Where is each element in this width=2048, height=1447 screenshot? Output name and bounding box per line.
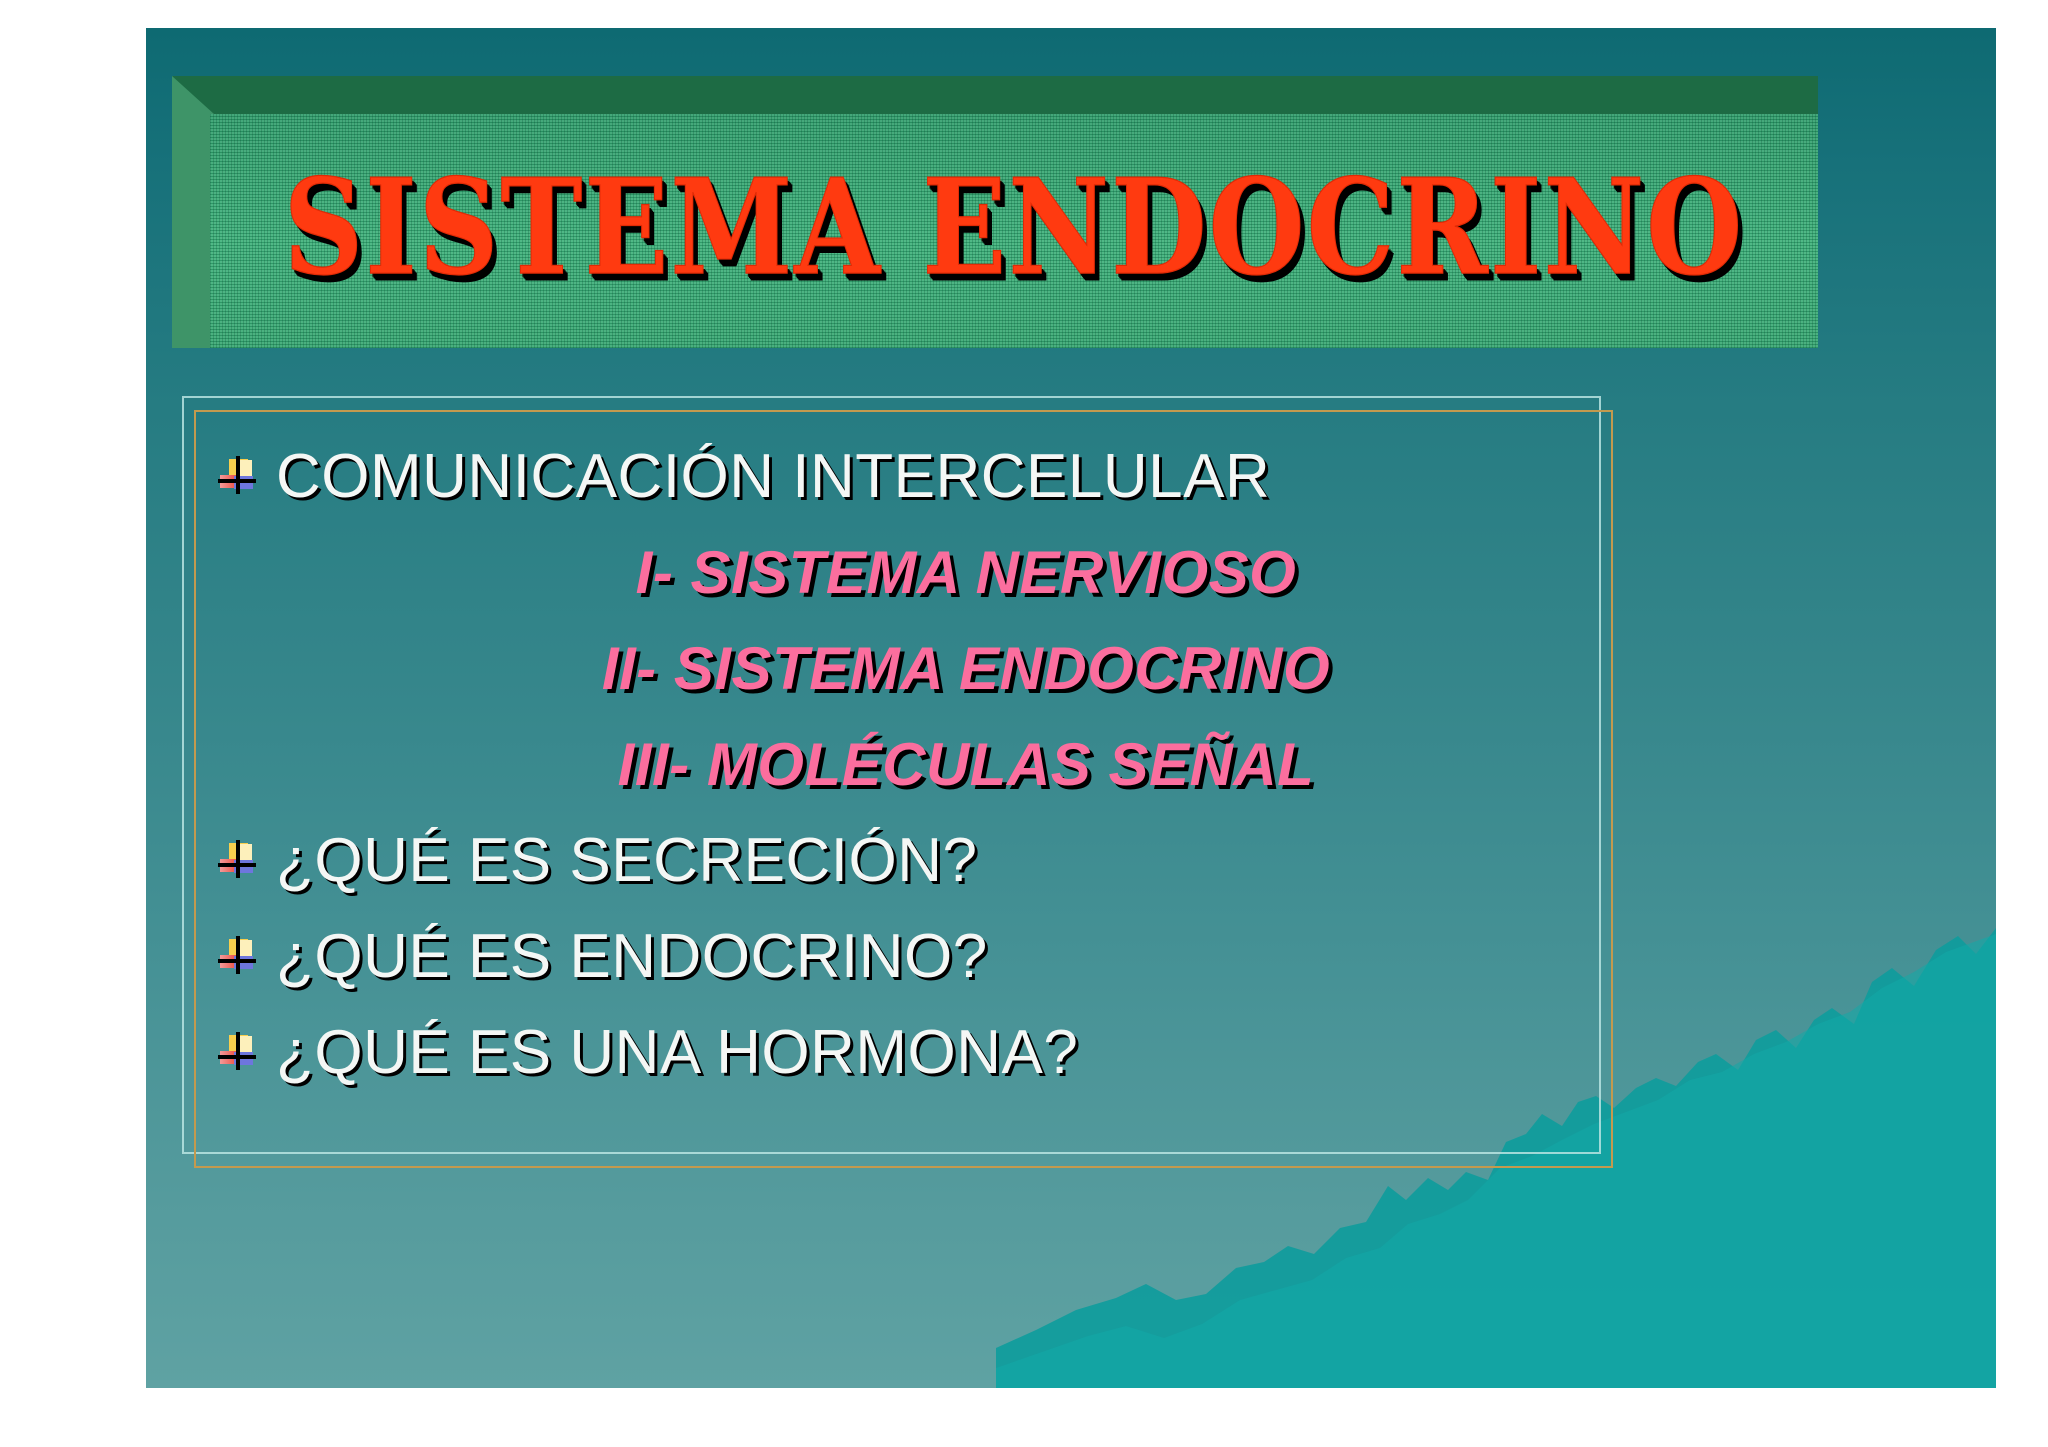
presentation-slide: SISTEMA ENDOCRINO COMUNICACIÓN INTERCELU… <box>146 28 1996 1388</box>
banner-face: SISTEMA ENDOCRINO <box>210 114 1818 348</box>
list-item: I- SISTEMA NERVIOSO <box>206 524 1606 620</box>
bullet-sq-cream-part <box>239 940 252 957</box>
list-item: COMUNICACIÓN INTERCELULAR <box>206 428 1606 524</box>
list-item-label: ¿QUÉ ES UNA HORMONA? <box>276 1017 1078 1088</box>
list-item-label: ¿QUÉ ES SECRECIÓN? <box>276 825 977 896</box>
list-item-label: I- SISTEMA NERVIOSO <box>636 538 1297 607</box>
bullet-bar-h-part <box>218 863 256 867</box>
bullet-marker-icon <box>220 939 254 973</box>
bullet-sq-cream-part <box>239 460 252 477</box>
bullet-sq-cream-part <box>239 1036 252 1053</box>
bullet-bar-v-part <box>236 840 240 878</box>
list-item-label: ¿QUÉ ES ENDOCRINO? <box>276 921 988 992</box>
list-item: ¿QUÉ ES ENDOCRINO? <box>206 908 1606 1004</box>
content-list: COMUNICACIÓN INTERCELULARI- SISTEMA NERV… <box>206 428 1606 1100</box>
list-item-label: II- SISTEMA ENDOCRINO <box>602 634 1330 703</box>
slide-title: SISTEMA ENDOCRINO <box>284 162 1745 294</box>
bullet-sq-cream-part <box>239 844 252 861</box>
list-item-label: COMUNICACIÓN INTERCELULAR <box>276 441 1270 512</box>
bullet-bar-h-part <box>218 959 256 963</box>
list-item: II- SISTEMA ENDOCRINO <box>206 620 1606 716</box>
bullet-bar-h-part <box>218 1055 256 1059</box>
bullet-bar-v-part <box>236 936 240 974</box>
list-item: ¿QUÉ ES UNA HORMONA? <box>206 1004 1606 1100</box>
bullet-marker-icon <box>220 843 254 877</box>
list-item-label: III- MOLÉCULAS SEÑAL <box>618 730 1315 799</box>
title-banner: SISTEMA ENDOCRINO <box>172 76 1818 348</box>
bullet-bar-v-part <box>236 1032 240 1070</box>
bullet-marker-icon <box>220 1035 254 1069</box>
banner-left-bevel <box>172 76 214 348</box>
list-item: ¿QUÉ ES SECRECIÓN? <box>206 812 1606 908</box>
bullet-bar-v-part <box>236 456 240 494</box>
list-item: III- MOLÉCULAS SEÑAL <box>206 716 1606 812</box>
bullet-bar-h-part <box>218 479 256 483</box>
banner-top-bevel <box>172 76 1818 116</box>
bullet-marker-icon <box>220 459 254 493</box>
